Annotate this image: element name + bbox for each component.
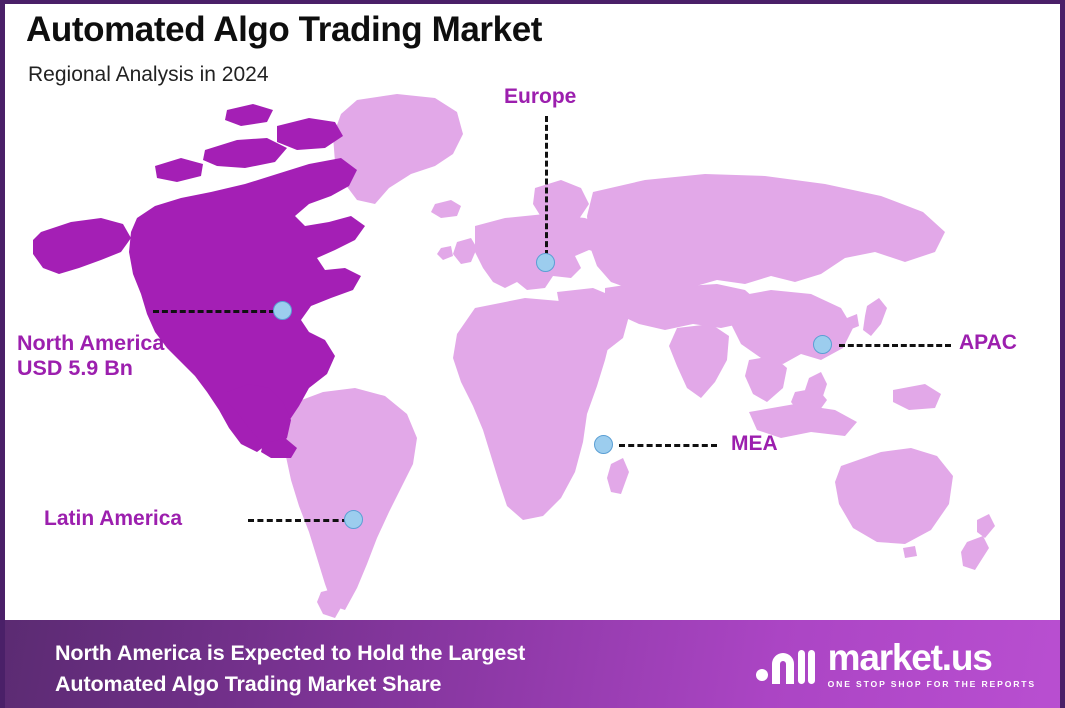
region-south-asia — [669, 324, 729, 398]
marker-dot-europe[interactable] — [536, 253, 555, 272]
footer-headline: North America is Expected to Hold the La… — [55, 638, 525, 700]
region-russia — [587, 174, 945, 290]
leader-line-europe — [545, 116, 548, 256]
callout-europe: Europe — [504, 85, 576, 110]
region-iceland — [431, 200, 461, 218]
infographic-root: Automated Algo Trading Market Regional A… — [0, 0, 1065, 708]
region-east-asia — [727, 290, 853, 364]
leader-line-apac — [839, 344, 951, 347]
callout-latin-america-label: Latin America — [44, 507, 182, 532]
footer-headline-line1: North America is Expected to Hold the La… — [55, 638, 525, 669]
region-tasmania — [903, 546, 917, 558]
region-alaska — [33, 218, 131, 274]
market-us-logo[interactable]: market.us ONE STOP SHOP FOR THE REPORTS — [755, 640, 1036, 689]
callout-latin-america: Latin America — [44, 507, 182, 532]
callout-apac-label: APAC — [959, 331, 1017, 356]
marker-dot-apac[interactable] — [813, 335, 832, 354]
callout-apac: APAC — [959, 331, 1017, 356]
region-new-zealand-south — [961, 536, 989, 570]
region-new-zealand — [977, 514, 995, 538]
marker-dot-mea[interactable] — [594, 435, 613, 454]
region-papua-new-guinea — [893, 384, 941, 410]
leader-line-mea — [619, 444, 717, 447]
market-us-wordmark: market.us — [828, 640, 1036, 676]
footer-headline-line2: Automated Algo Trading Market Share — [55, 669, 525, 700]
callout-mea: MEA — [731, 432, 778, 457]
market-us-logo-text: market.us ONE STOP SHOP FOR THE REPORTS — [828, 640, 1036, 689]
callout-north-america: North America USD 5.9 Bn — [17, 331, 164, 382]
leader-line-north-america — [153, 310, 275, 313]
region-korea — [847, 314, 859, 330]
region-canada-arctic-1 — [203, 138, 287, 168]
region-greenland — [333, 94, 463, 204]
region-madagascar — [607, 458, 629, 494]
region-indochina — [745, 356, 787, 402]
marker-dot-latin-america[interactable] — [344, 510, 363, 529]
market-us-logo-mark — [755, 642, 817, 686]
region-canada-arctic-3 — [155, 158, 203, 182]
region-japan — [863, 298, 887, 336]
callout-europe-label: Europe — [504, 85, 576, 110]
callout-mea-label: MEA — [731, 432, 778, 457]
marker-dot-north-america[interactable] — [273, 301, 292, 320]
region-canada-arctic-4 — [225, 104, 273, 126]
region-canada-arctic-2 — [277, 118, 343, 150]
map-base-regions — [271, 94, 995, 618]
region-ireland — [437, 246, 453, 260]
region-australia — [835, 448, 953, 544]
page-title: Automated Algo Trading Market — [26, 10, 542, 50]
market-us-tagline: ONE STOP SHOP FOR THE REPORTS — [828, 679, 1036, 689]
page-subtitle: Regional Analysis in 2024 — [28, 63, 269, 87]
callout-north-america-value: USD 5.9 Bn — [17, 356, 164, 381]
callout-north-america-label: North America — [17, 331, 164, 356]
region-british-isles — [453, 238, 477, 264]
leader-line-latin-america — [248, 519, 348, 522]
region-south-america — [285, 388, 417, 610]
footer-banner: North America is Expected to Hold the La… — [5, 620, 1065, 708]
region-africa — [453, 298, 611, 520]
